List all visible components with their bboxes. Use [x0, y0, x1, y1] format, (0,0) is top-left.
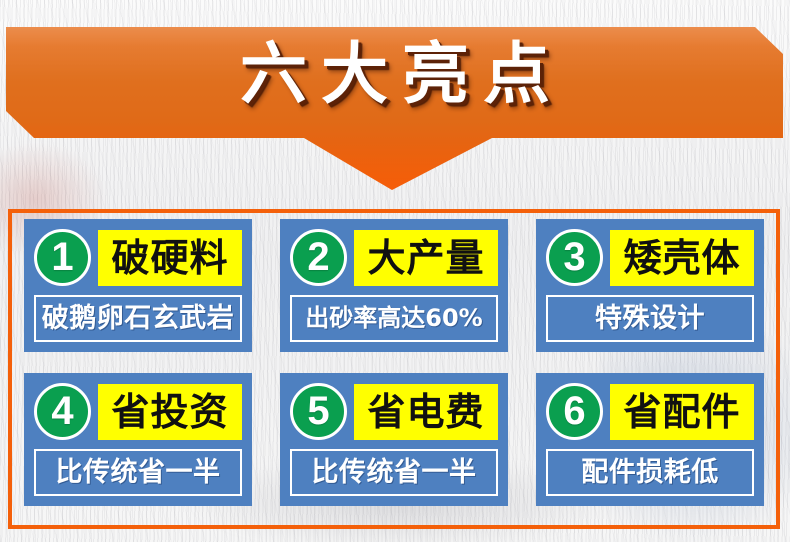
highlights-grid: 1 破硬料 破鹅卵石玄武岩 2 大产量 出砂率高达60% 3 矮壳体 特殊设计 …: [24, 219, 764, 519]
highlight-card-5[interactable]: 5 省电费 比传统省一半: [280, 373, 508, 506]
card-6-subtitle: 配件损耗低: [546, 449, 754, 496]
highlight-card-3[interactable]: 3 矮壳体 特殊设计: [536, 219, 764, 352]
highlight-card-2[interactable]: 2 大产量 出砂率高达60%: [280, 219, 508, 352]
card-6-top: 6 省配件: [546, 382, 754, 441]
page-title: 六大亮点: [0, 41, 790, 108]
card-4-headline: 省投资: [98, 384, 242, 440]
card-3-headline: 矮壳体: [610, 230, 754, 286]
highlight-card-6[interactable]: 6 省配件 配件损耗低: [536, 373, 764, 506]
card-4-top: 4 省投资: [34, 382, 242, 441]
badge-number-icon: 4: [34, 383, 91, 440]
card-4-subtitle: 比传统省一半: [34, 449, 242, 496]
card-5-subtitle: 比传统省一半: [290, 449, 498, 496]
badge-number-icon: 1: [34, 229, 91, 286]
card-1-subtitle: 破鹅卵石玄武岩: [34, 295, 242, 342]
badge-number-icon: 6: [546, 383, 603, 440]
card-3-subtitle: 特殊设计: [546, 295, 754, 342]
card-5-headline: 省电费: [354, 384, 498, 440]
badge-number-icon: 3: [546, 229, 603, 286]
promo-poster: 六大亮点 1 破硬料 破鹅卵石玄武岩 2 大产量 出砂率高达60% 3 矮壳体 …: [0, 0, 790, 542]
highlight-card-1[interactable]: 1 破硬料 破鹅卵石玄武岩: [24, 219, 252, 352]
badge-number-icon: 2: [290, 229, 347, 286]
highlight-card-4[interactable]: 4 省投资 比传统省一半: [24, 373, 252, 506]
badge-number-icon: 5: [290, 383, 347, 440]
card-5-top: 5 省电费: [290, 382, 498, 441]
card-1-headline: 破硬料: [98, 230, 242, 286]
card-2-headline: 大产量: [354, 230, 498, 286]
card-6-headline: 省配件: [610, 384, 754, 440]
card-1-top: 1 破硬料: [34, 228, 242, 287]
card-2-subtitle: 出砂率高达60%: [290, 295, 498, 342]
card-3-top: 3 矮壳体: [546, 228, 754, 287]
card-2-top: 2 大产量: [290, 228, 498, 287]
